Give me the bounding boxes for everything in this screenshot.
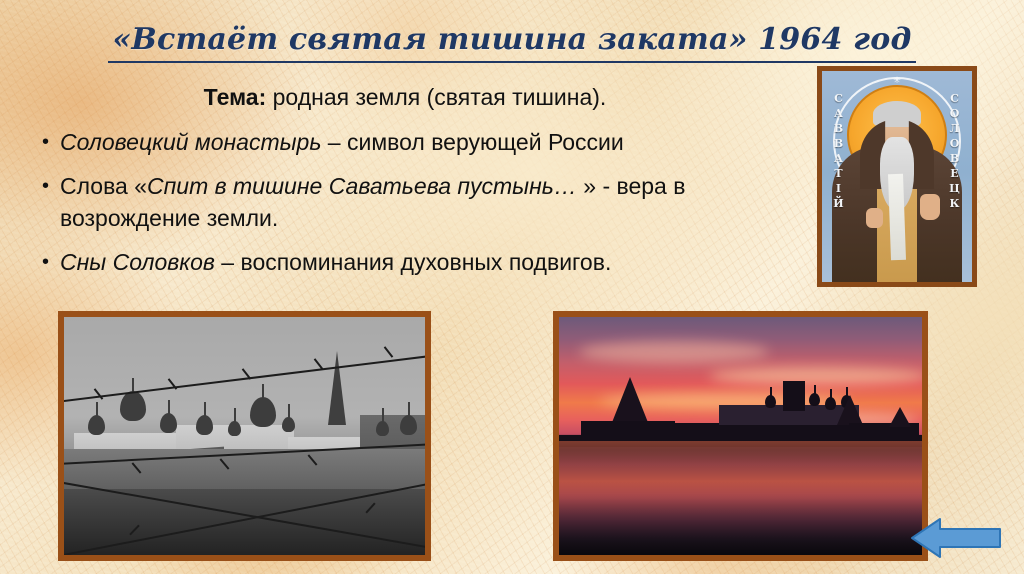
slide-title-container: «Встаёт святая тишина заката» 1964 год [0, 22, 1024, 63]
barb-shape [384, 346, 394, 357]
dome-shape [376, 421, 389, 436]
icon-inscription-right-char: К [942, 196, 968, 211]
bullet-dot-icon: • [42, 246, 60, 278]
cloud-shape [579, 341, 769, 363]
icon-inscription-right-char: Ц [942, 181, 968, 196]
bell-tower-shape [783, 381, 805, 411]
bullet-dot-icon: • [42, 126, 60, 158]
water-reflection-shape [559, 441, 922, 555]
dome-shape [809, 393, 820, 406]
dome-shape [825, 397, 836, 410]
star-glyph-icon: ✳ [893, 75, 901, 86]
icon-inscription-left-char: В [826, 136, 852, 151]
list-item-rest: – символ верующей России [321, 129, 623, 155]
list-item-emphasis: Соловецкий монастырь [60, 129, 321, 155]
page-title: «Встаёт святая тишина заката» 1964 год [108, 22, 915, 63]
icon-inscription-right-char: О [942, 136, 968, 151]
icon-inscription-left-char: С [826, 91, 852, 106]
dome-shape [196, 415, 213, 435]
icon-inscription-right-char: В [942, 151, 968, 166]
saint-savvaty-icon: ✳ С А В В А Т I Й С О Л О В Е Ц К [817, 66, 977, 287]
list-item-text: Соловецкий монастырь – символ верующей Р… [60, 126, 782, 158]
list-item-emphasis: Спит в тишине Саватьева пустынь… [147, 173, 577, 199]
monastery-behind-barbed-wire-photo [58, 311, 431, 561]
icon-inscription-left-char: А [826, 151, 852, 166]
island-shape [559, 435, 922, 447]
cloud-shape [709, 367, 928, 385]
list-item: • Сны Соловков – воспоминания духовных п… [42, 246, 782, 278]
icon-artwork: ✳ С А В В А Т I Й С О Л О В Е Ц К [822, 71, 972, 282]
icon-inscription-left: С А В В А Т I Й [826, 91, 852, 211]
slide-canvas: «Встаёт святая тишина заката» 1964 год Т… [0, 0, 1024, 574]
holding-hand-shape [866, 208, 883, 228]
icon-inscription-left-char: А [826, 106, 852, 121]
monastery-sunset-reflection-photo [553, 311, 928, 561]
dome-shape [765, 395, 776, 408]
list-item-text: Слова «Спит в тишине Саватьева пустынь… … [60, 170, 782, 234]
arrow-shape[interactable] [912, 519, 1000, 557]
dome-shape [250, 397, 276, 427]
corner-tower-shape [889, 407, 911, 427]
dome-shape [160, 413, 177, 433]
theme-value: родная земля (святая тишина). [266, 84, 606, 110]
bullet-list: • Соловецкий монастырь – символ верующей… [42, 126, 782, 290]
barbed-wire-shape [58, 352, 431, 403]
bell-tower-spire-shape [328, 351, 346, 425]
bw-scene [64, 317, 425, 555]
icon-inscription-right-char: О [942, 106, 968, 121]
blessing-hand-shape [920, 194, 940, 220]
scroll-shape [888, 174, 906, 260]
icon-inscription-left-char: В [826, 121, 852, 136]
corner-tower-shape [837, 395, 863, 425]
dome-shape [228, 421, 241, 436]
theme-line: Тема: родная земля (святая тишина). [0, 82, 810, 112]
bullet-dot-icon: • [42, 170, 60, 202]
dome-shape [88, 415, 105, 435]
dome-shape [120, 391, 146, 421]
icon-inscription-right-char: С [942, 91, 968, 106]
list-item-rest: – воспоминания духовных подвигов. [215, 249, 611, 275]
list-item-emphasis: Сны Соловков [60, 249, 215, 275]
icon-inscription-left-char: Т [826, 166, 852, 181]
icon-inscription-right-char: Л [942, 121, 968, 136]
monastery-wall-shape [64, 449, 425, 493]
list-item: • Слова «Спит в тишине Саватьева пустынь… [42, 170, 782, 234]
dome-shape [282, 417, 295, 432]
list-item-lead: Слова « [60, 173, 147, 199]
sunset-scene [559, 317, 922, 555]
icon-inscription-right-char: Е [942, 166, 968, 181]
icon-inscription-left-char: Й [826, 196, 852, 211]
corner-tower-shape [611, 377, 649, 425]
dome-shape [400, 415, 417, 435]
icon-inscription-right: С О Л О В Е Ц К [942, 91, 968, 211]
back-arrow-icon[interactable] [910, 516, 1002, 560]
icon-inscription-left-char: I [826, 181, 852, 196]
list-item: • Соловецкий монастырь – символ верующей… [42, 126, 782, 158]
list-item-text: Сны Соловков – воспоминания духовных под… [60, 246, 782, 278]
theme-label: Тема: [204, 84, 267, 110]
